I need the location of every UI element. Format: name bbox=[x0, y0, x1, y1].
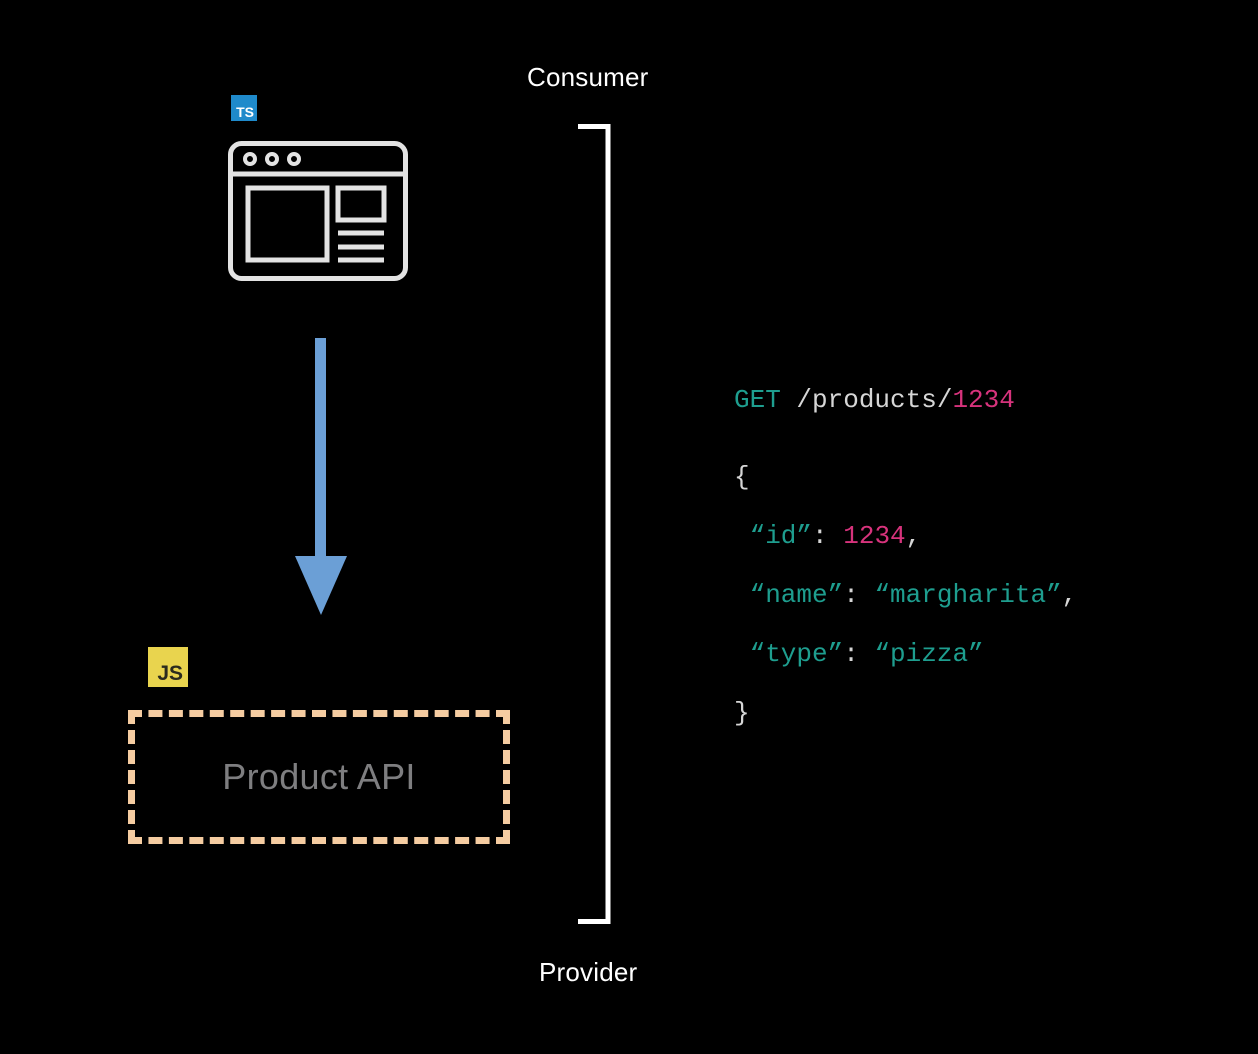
provider-boundary-label: Provider bbox=[539, 957, 637, 988]
code-token-punct: : bbox=[843, 582, 874, 608]
code-token-brace: { bbox=[734, 464, 750, 490]
code-token-punct: : bbox=[812, 523, 843, 549]
typescript-badge: TS bbox=[231, 95, 257, 121]
typescript-badge-label: TS bbox=[236, 105, 254, 119]
code-line-gap-1 bbox=[734, 429, 1214, 447]
code-token-method: GET bbox=[734, 387, 781, 413]
browser-window-wireframe-icon bbox=[228, 141, 408, 281]
javascript-badge-label: JS bbox=[157, 663, 183, 684]
code-token-punct: , bbox=[906, 523, 922, 549]
code-token-brace: } bbox=[734, 700, 750, 726]
code-line-field-type: “type”: “pizza” bbox=[734, 624, 1214, 683]
down-arrow-icon bbox=[288, 338, 354, 616]
consumer-boundary-label: Consumer bbox=[527, 62, 649, 93]
code-token-punct: : bbox=[843, 641, 874, 667]
code-line-open-brace: { bbox=[734, 447, 1214, 506]
code-token-number: 1234 bbox=[843, 523, 905, 549]
code-token-string: “pizza” bbox=[874, 641, 983, 667]
code-line-close-brace: } bbox=[734, 683, 1214, 742]
code-token-string: “margharita” bbox=[874, 582, 1061, 608]
scope-bracket-shape bbox=[575, 124, 615, 924]
code-line-request-line: GET /products/1234 bbox=[734, 370, 1214, 429]
code-token-string: “name” bbox=[734, 582, 843, 608]
diagram-canvas: Consumer TS bbox=[0, 0, 1258, 1054]
code-line-field-id: “id”: 1234, bbox=[734, 506, 1214, 565]
code-token-number: 1234 bbox=[952, 387, 1014, 413]
code-line-field-name: “name”: “margharita”, bbox=[734, 565, 1214, 624]
code-token-punct: , bbox=[1062, 582, 1078, 608]
contract-code-panel: GET /products/1234{ “id”: 1234, “name”: … bbox=[734, 370, 1214, 742]
code-token-string: “type” bbox=[734, 641, 843, 667]
scope-bracket bbox=[575, 124, 615, 924]
product-api-box: Product API bbox=[128, 710, 510, 844]
code-token-path: /products/ bbox=[781, 387, 953, 413]
down-arrow-shape bbox=[288, 338, 354, 616]
browser-window-wireframe-shape bbox=[228, 141, 408, 281]
code-token-string: “id” bbox=[734, 523, 812, 549]
product-api-label: Product API bbox=[222, 756, 415, 798]
javascript-badge: JS bbox=[148, 647, 188, 687]
